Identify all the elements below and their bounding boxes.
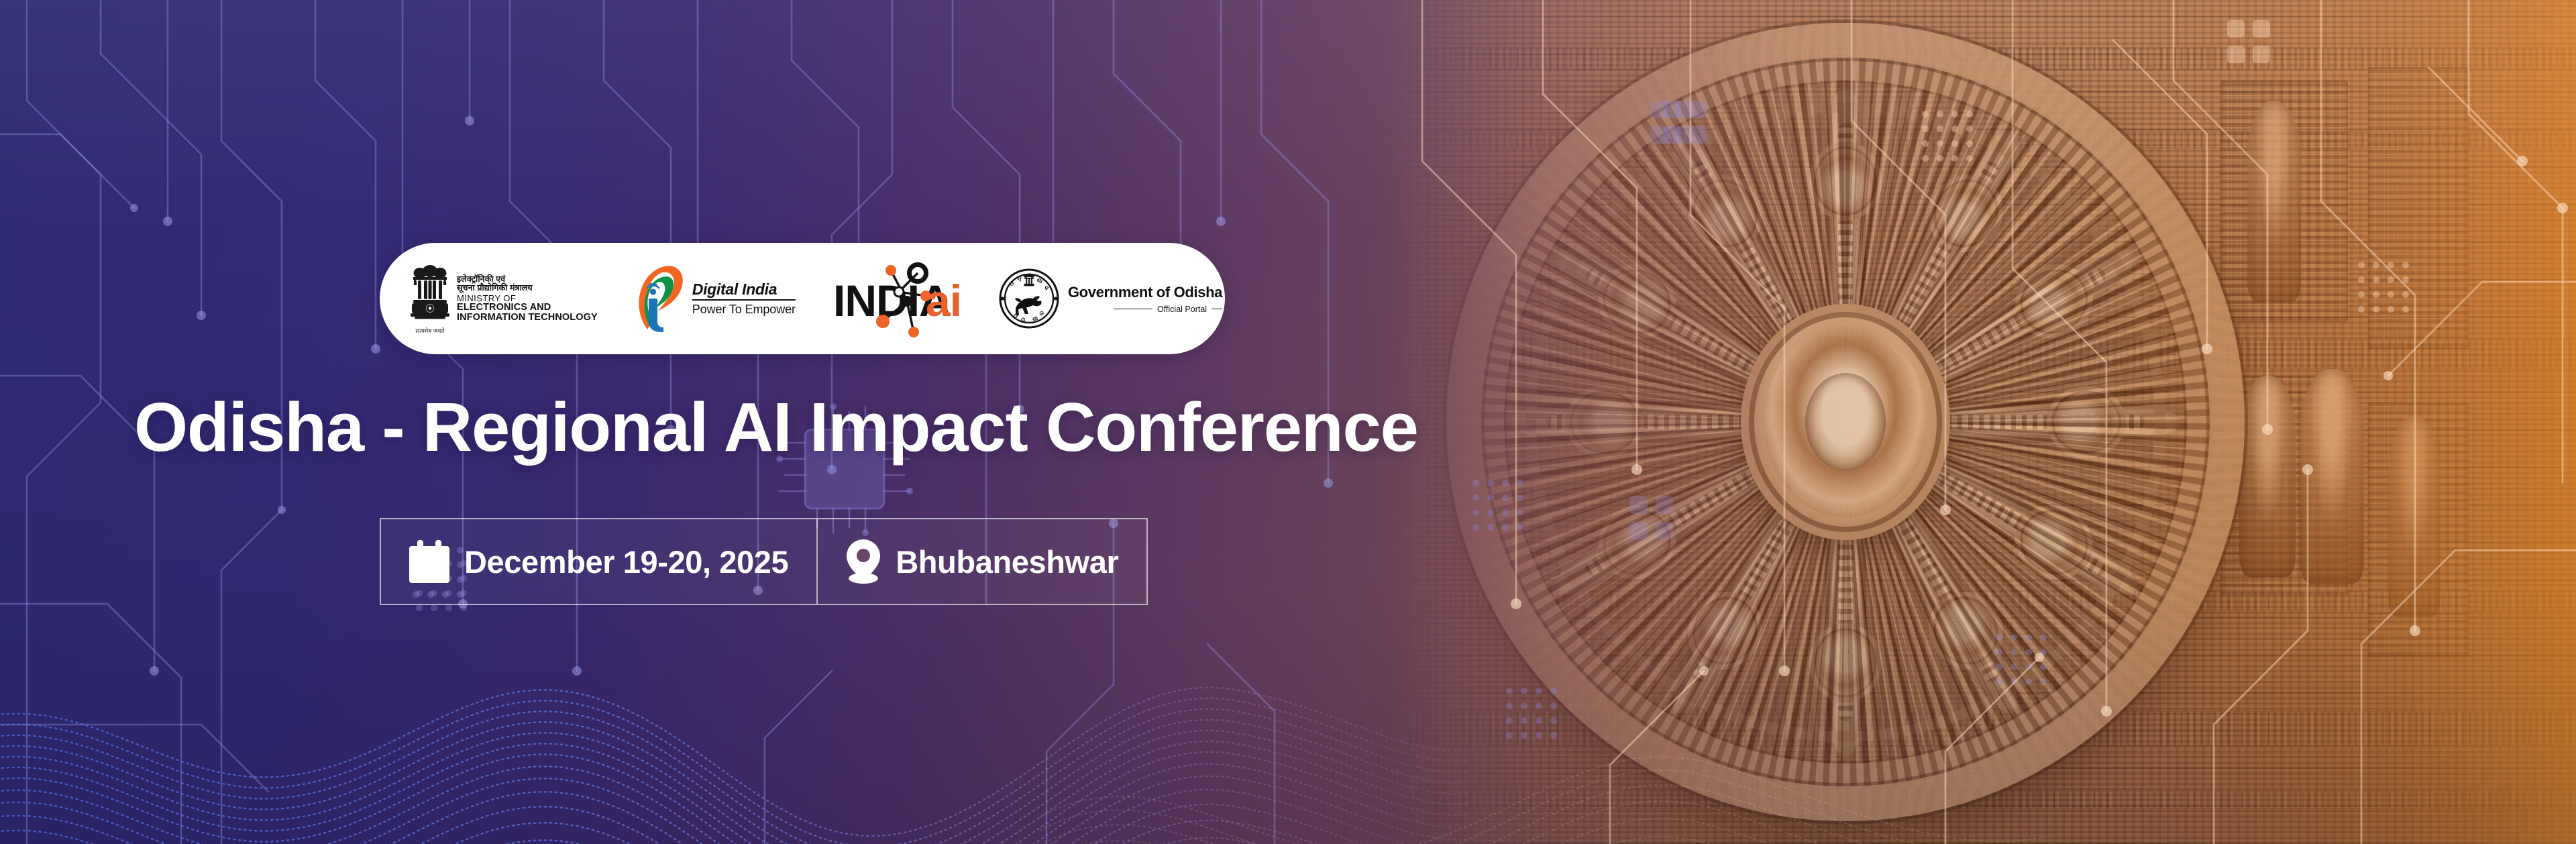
page-title: Odisha - Regional AI Impact Conference [134, 388, 1418, 467]
event-location-cell[interactable]: Bhubaneshwar [816, 519, 1146, 604]
svg-text:ଶା: ଶା [1036, 277, 1044, 286]
svg-text:ଶା: ଶା [1032, 315, 1039, 323]
odisha-rule-right [1212, 309, 1222, 310]
event-date-cell[interactable]: December 19-20, 2025 [381, 519, 816, 604]
meity-hindi-line-2: सूचना प्रौद्योगिकी मंत्रालय [457, 284, 598, 293]
event-date-label: December 19-20, 2025 [464, 543, 788, 580]
logo-meity[interactable]: सत्यमेव जयते इलेक्ट्रॉनिकी एवं सूचना प्र… [409, 262, 598, 335]
meity-english-line-2: ELECTRONICS AND [457, 303, 598, 313]
logo-indiaai[interactable]: INDIA ai [832, 258, 966, 339]
partner-logo-bar: सत्यमेव जयते इलेक्ट्रॉनिकी एवं सूचना प्र… [380, 243, 1225, 354]
state-emblem-of-india-icon [409, 262, 451, 327]
digital-india-title: Digital India [692, 280, 796, 301]
odisha-title: Government of Odisha [1068, 284, 1222, 301]
calendar-icon [409, 540, 449, 583]
odisha-subtitle: Official Portal [1157, 305, 1207, 314]
meity-hindi-line-1: इलेक्ट्रॉनिकी एवं [457, 275, 598, 284]
logo-government-of-odisha[interactable]: ଓ ଡ଼ ଶା ସ ଓ ଡ଼ି ଶା ର Government of Odish… [998, 268, 1222, 329]
event-location-label: Bhubaneshwar [896, 543, 1118, 580]
event-info-bar: December 19-20, 2025 Bhubaneshwar [380, 518, 1148, 605]
digital-india-swoosh-icon [635, 264, 685, 333]
meity-english-line-3: INFORMATION TECHNOLOGY [457, 313, 598, 323]
map-pin-icon [846, 539, 881, 584]
svg-text:ଡ଼ି: ଡ଼ି [1020, 316, 1027, 325]
digital-india-tagline: Power To Empower [692, 303, 796, 317]
svg-text:ai: ai [926, 276, 961, 325]
odisha-rule-left [1114, 309, 1152, 310]
svg-text:ସ: ସ [1042, 284, 1050, 292]
indiaai-wordmark-icon: INDIA ai [832, 258, 966, 339]
logo-digital-india[interactable]: Digital India Power To Empower [635, 264, 796, 333]
government-of-odisha-seal-icon: ଓ ଡ଼ ଶା ସ ଓ ଡ଼ି ଶା ର [998, 268, 1060, 329]
emblem-motto: सत्यमेव जयते [415, 327, 444, 335]
conference-banner: सत्यमेव जयते इलेक्ट्रॉनिकी एवं सूचना प्र… [0, 0, 2576, 844]
